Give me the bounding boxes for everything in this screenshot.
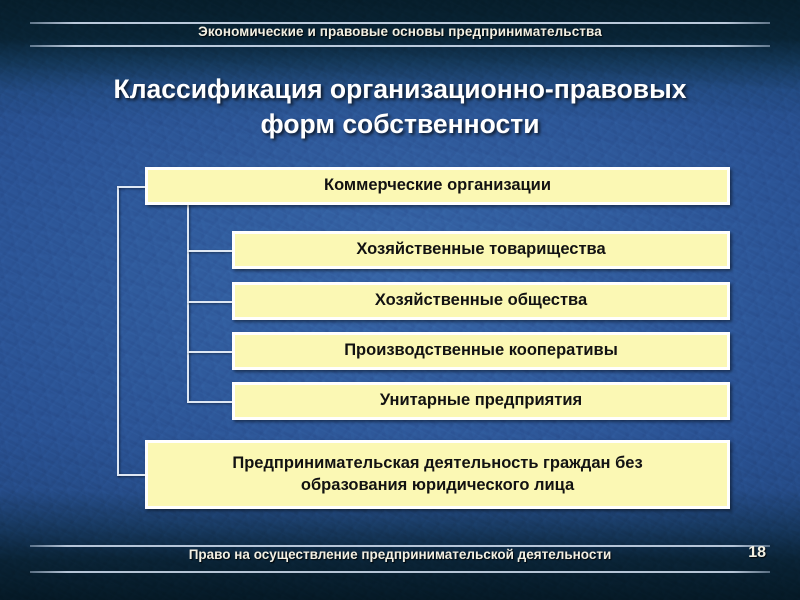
diagram-node-child-1[interactable]: Хозяйственные товарищества [232,231,730,269]
diagram-node-child-4-label: Унитарные предприятия [380,390,582,411]
connector-inner-to-child-4 [187,401,234,403]
connector-inner-to-child-2 [187,301,234,303]
diagram-node-child-2[interactable]: Хозяйственные общества [232,282,730,320]
slide-number: 18 [748,544,766,562]
connector-outer-to-sibling [117,474,147,476]
footer-rule-bottom [30,571,770,573]
diagram-node-root-label: Коммерческие организации [324,175,551,196]
diagram-node-root[interactable]: Коммерческие организации [145,167,730,205]
connector-inner-to-child-3 [187,351,234,353]
footer-title: Право на осуществление предпринимательск… [0,547,800,562]
diagram-node-child-2-label: Хозяйственные общества [375,290,587,311]
connector-outer-to-root [117,186,147,188]
diagram-node-sibling-line-1: Предпринимательская деятельность граждан… [232,453,642,474]
connector-outer-vertical [117,186,119,476]
slide-canvas: Экономические и правовые основы предприн… [0,0,800,600]
classification-diagram: Коммерческие организации Хозяйственные т… [0,0,800,600]
diagram-node-child-3-label: Производственные кооперативы [344,340,618,361]
connector-inner-vertical [187,204,189,402]
diagram-node-child-4[interactable]: Унитарные предприятия [232,382,730,420]
connector-inner-to-child-1 [187,250,234,252]
diagram-node-child-3[interactable]: Производственные кооперативы [232,332,730,370]
diagram-node-sibling[interactable]: Предпринимательская деятельность граждан… [145,440,730,509]
slide-footer: Право на осуществление предпринимательск… [0,528,800,600]
diagram-node-sibling-line-2: образования юридического лица [301,475,574,496]
diagram-node-child-1-label: Хозяйственные товарищества [356,239,605,260]
